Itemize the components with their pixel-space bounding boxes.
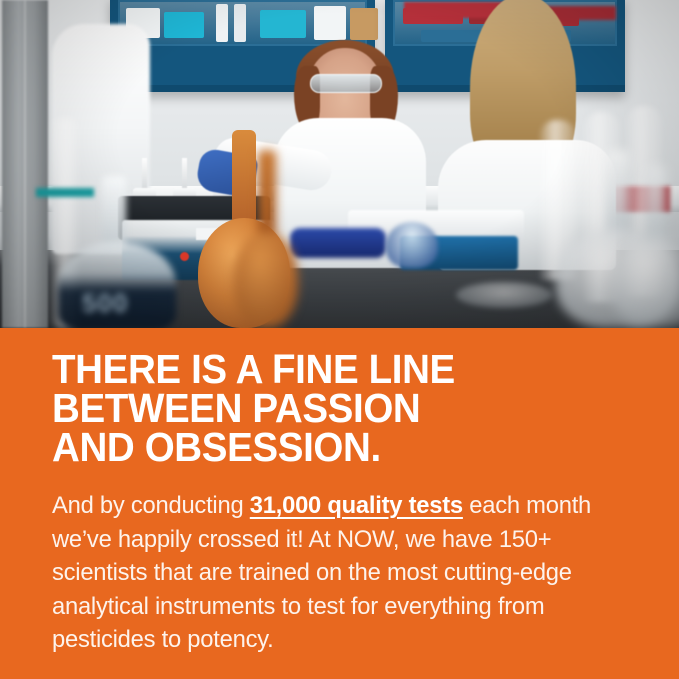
promo-card: 500 THERE IS A FINE LINE BETWEEN PASSION… xyxy=(0,0,679,679)
photo-vignette xyxy=(0,0,679,328)
orange-message-panel: THERE IS A FINE LINE BETWEEN PASSION AND… xyxy=(0,328,679,679)
page-title: THERE IS A FINE LINE BETWEEN PASSION AND… xyxy=(52,350,593,467)
body-paragraph: And by conducting 31,000 quality tests e… xyxy=(52,489,610,657)
lab-photo: 500 xyxy=(0,0,679,328)
quality-tests-highlight: 31,000 quality tests xyxy=(250,492,463,519)
body-lead: And by conducting xyxy=(52,492,250,519)
